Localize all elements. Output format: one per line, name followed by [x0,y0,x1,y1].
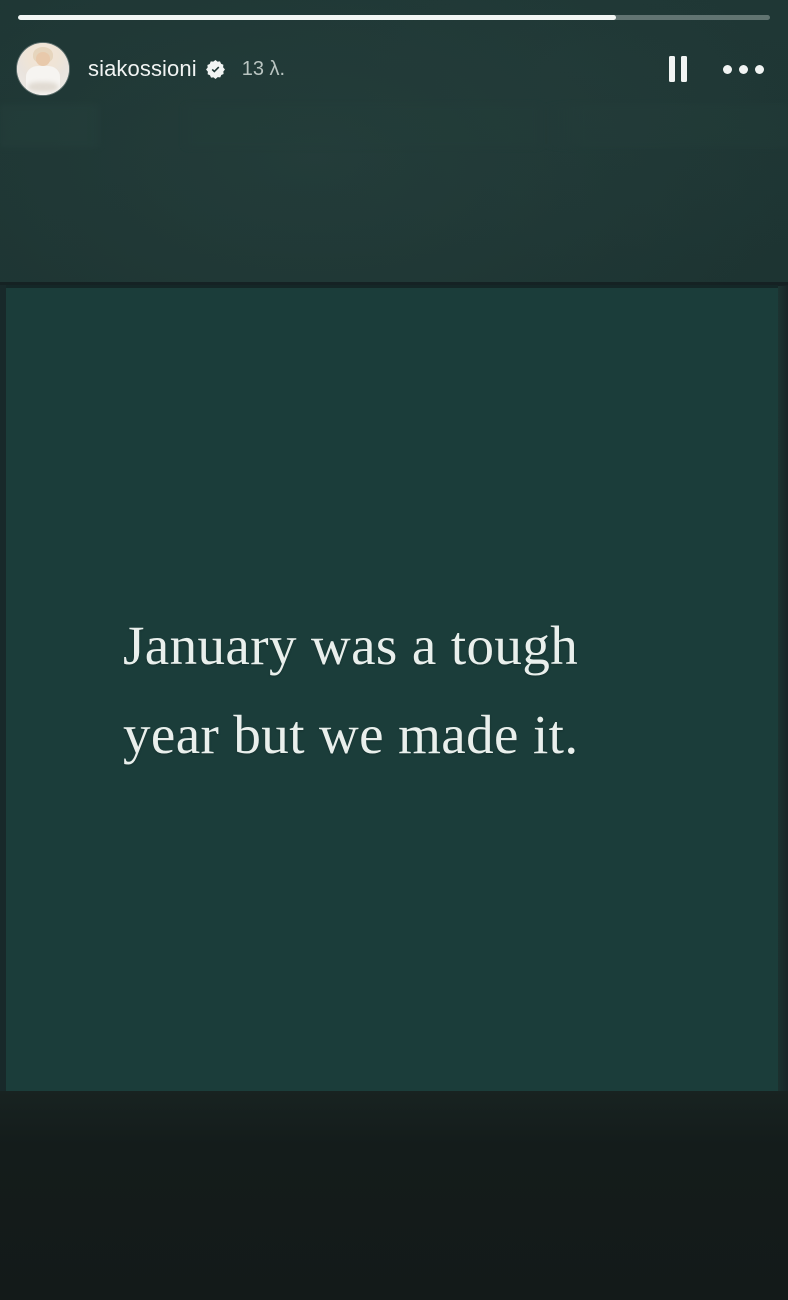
backdrop-artifact [0,104,788,148]
story-timestamp: 13 λ. [242,58,285,81]
story-panel-left-edge [0,285,6,1091]
story-viewer: siakossioni 13 λ. January was a tough ye… [0,0,788,1300]
avatar-face [36,52,51,66]
more-dot-3 [755,65,764,74]
story-progress-fill [18,15,616,20]
avatar[interactable] [17,43,69,95]
story-panel-right-edge [778,285,788,1091]
username-label[interactable]: siakossioni [88,56,197,82]
bottom-area [0,1091,788,1300]
more-dot-2 [739,65,748,74]
story-text-line-2: year but we made it. [123,690,668,779]
avatar-shadow [28,82,57,92]
more-dot-1 [723,65,732,74]
verified-badge-icon [205,59,226,80]
pause-bar-left [669,56,675,82]
pause-bar-right [681,56,687,82]
more-options-icon[interactable] [722,54,764,84]
pause-icon[interactable] [663,54,693,84]
story-progress-bar[interactable] [18,15,770,20]
story-panel-edge [5,285,778,288]
story-header: siakossioni 13 λ. [0,36,788,102]
story-media-panel[interactable]: January was a tough year but we made it. [5,285,778,1091]
story-text-line-1: January was a tough [123,601,668,690]
story-text-overlay: January was a tough year but we made it. [5,601,778,779]
